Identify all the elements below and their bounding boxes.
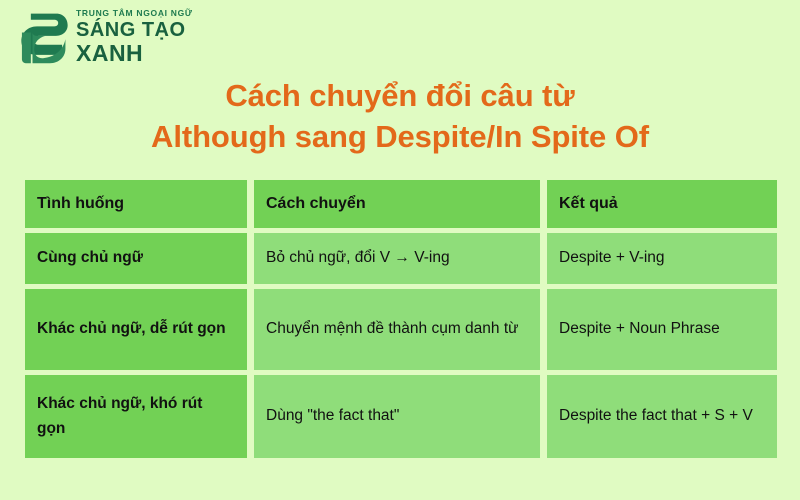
brand-name-line-1: SÁNG TẠO (76, 20, 193, 41)
table-row: Khác chủ ngữ, dễ rút gọn Chuyển mệnh đề … (25, 289, 777, 370)
cell-situation: Cùng chủ ngữ (25, 233, 247, 284)
page-title-line-1: Cách chuyển đổi câu từ (0, 76, 800, 117)
cell-result: Despite + Noun Phrase (547, 289, 777, 370)
table-row: Khác chủ ngữ, khó rút gọn Dùng "the fact… (25, 375, 777, 458)
page-title-line-2: Although sang Despite/In Spite Of (0, 117, 800, 158)
cell-method: Bỏ chủ ngữ, đổi V → V-ing (254, 233, 540, 284)
table-header-situation: Tình huống (25, 180, 247, 228)
cell-situation: Khác chủ ngữ, dễ rút gọn (25, 289, 247, 370)
cell-result: Despite the fact that + S + V (547, 375, 777, 458)
cell-method: Dùng "the fact that" (254, 375, 540, 458)
table-header-method: Cách chuyển (254, 180, 540, 228)
cell-result: Despite + V-ing (547, 233, 777, 284)
brand-logo: TRUNG TÂM NGOẠI NGỮ SÁNG TẠO XANH (14, 8, 193, 66)
comparison-table: Tình huống Cách chuyển Kết quả Cùng chủ … (25, 180, 777, 463)
table-header-result: Kết quả (547, 180, 777, 228)
cell-method: Chuyển mệnh đề thành cụm danh từ (254, 289, 540, 370)
brand-logo-text: TRUNG TÂM NGOẠI NGỮ SÁNG TẠO XANH (76, 9, 193, 66)
page-title: Cách chuyển đổi câu từ Although sang Des… (0, 76, 800, 158)
cell-situation: Khác chủ ngữ, khó rút gọn (25, 375, 247, 458)
brand-tagline: TRUNG TÂM NGOẠI NGỮ (76, 9, 193, 18)
table-row: Cùng chủ ngữ Bỏ chủ ngữ, đổi V → V-ing D… (25, 233, 777, 284)
book-leaf-logo-icon (14, 8, 70, 66)
brand-name-line-2: XANH (76, 41, 193, 65)
table-header-row: Tình huống Cách chuyển Kết quả (25, 180, 777, 228)
